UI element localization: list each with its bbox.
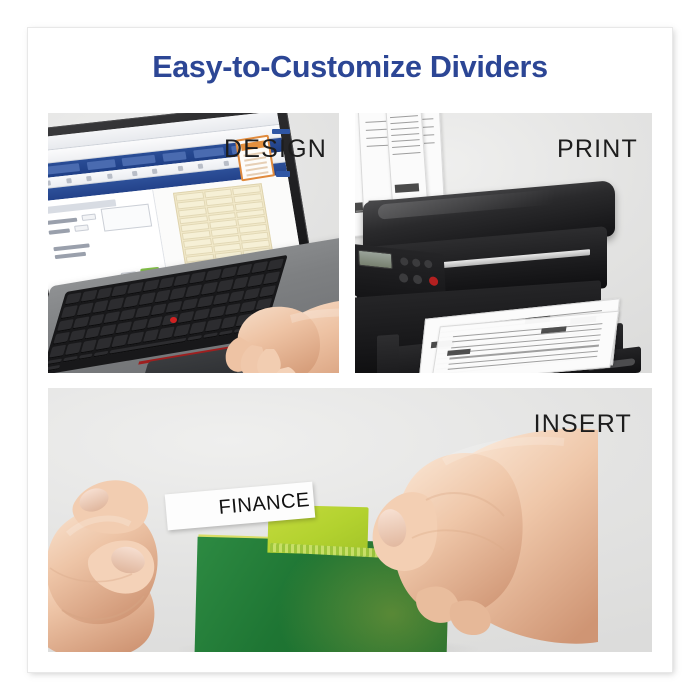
panel-label-design: DESIGN: [224, 135, 327, 164]
hand-typing: [194, 269, 339, 373]
panel-label-print: PRINT: [557, 135, 638, 164]
panel-design: DESIGN: [48, 113, 339, 373]
screen-chip-2: [276, 171, 290, 177]
printer-ink-door[interactable]: [377, 334, 399, 373]
printer-button-2[interactable]: [412, 258, 420, 267]
panel-print: PRINT: [355, 113, 652, 373]
printer-power-button[interactable]: [429, 276, 438, 286]
panel-insert: FINANCE: [48, 388, 652, 652]
page-title: Easy-to-Customize Dividers: [28, 50, 672, 85]
printer-button-5[interactable]: [413, 274, 422, 284]
panel-label-insert: INSERT: [534, 410, 632, 439]
printer-button-1[interactable]: [400, 257, 408, 266]
hand-left-holding-label: [48, 434, 247, 652]
printer-lcd-display: [358, 250, 393, 270]
hand-right-holding-divider: [348, 416, 598, 652]
printer-button-3[interactable]: [424, 260, 432, 269]
product-image-card: Easy-to-Customize Dividers: [28, 28, 672, 672]
printer-button-4[interactable]: [399, 273, 408, 283]
screen-chip-1: [272, 129, 290, 134]
